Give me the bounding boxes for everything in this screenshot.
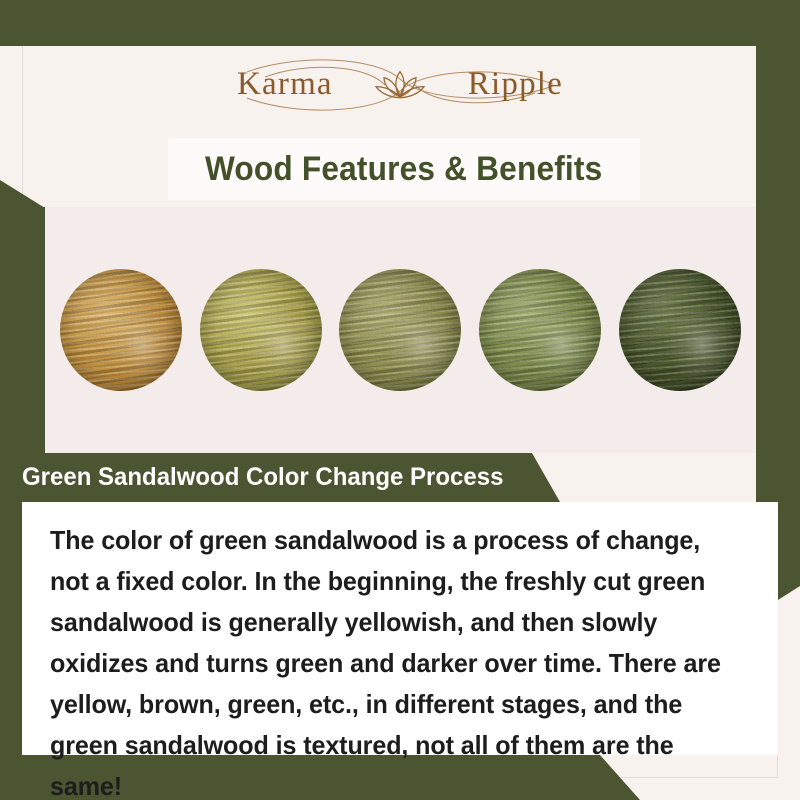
logo-word-ripple: Ripple: [468, 66, 563, 103]
page-title: Wood Features & Benefits: [205, 150, 602, 189]
logo-word-karma: Karma: [237, 66, 333, 103]
bead-stage-1: [60, 269, 182, 391]
body-paragraph: The color of green sandalwood is a proce…: [50, 520, 726, 800]
bead-stage-3: [339, 269, 461, 391]
infographic-root: Karma Ripple Wood Features & Benefits Gr…: [0, 0, 800, 800]
lotus-icon: [373, 67, 427, 101]
frame-band-top: [0, 0, 800, 46]
section-header-banner: Green Sandalwood Color Change Process: [0, 453, 560, 502]
body-panel: The color of green sandalwood is a proce…: [22, 502, 778, 755]
frame-band-left-tip: [0, 180, 45, 208]
brand-logo: Karma Ripple: [0, 46, 800, 124]
bead-strip: [45, 207, 756, 453]
bead-shading-overlay: [60, 269, 182, 391]
bead-stage-2: [200, 269, 322, 391]
body-paragraph-wrap: The color of green sandalwood is a proce…: [50, 520, 726, 800]
bead-shading-overlay: [619, 269, 741, 391]
bead-shading-overlay: [479, 269, 601, 391]
bead-stage-5: [619, 269, 741, 391]
title-banner: Wood Features & Benefits: [168, 138, 640, 200]
bead-row: [45, 207, 756, 453]
bead-shading-overlay: [339, 269, 461, 391]
section-header-title: Green Sandalwood Color Change Process: [22, 453, 503, 502]
bead-shading-overlay: [200, 269, 322, 391]
bead-stage-4: [479, 269, 601, 391]
